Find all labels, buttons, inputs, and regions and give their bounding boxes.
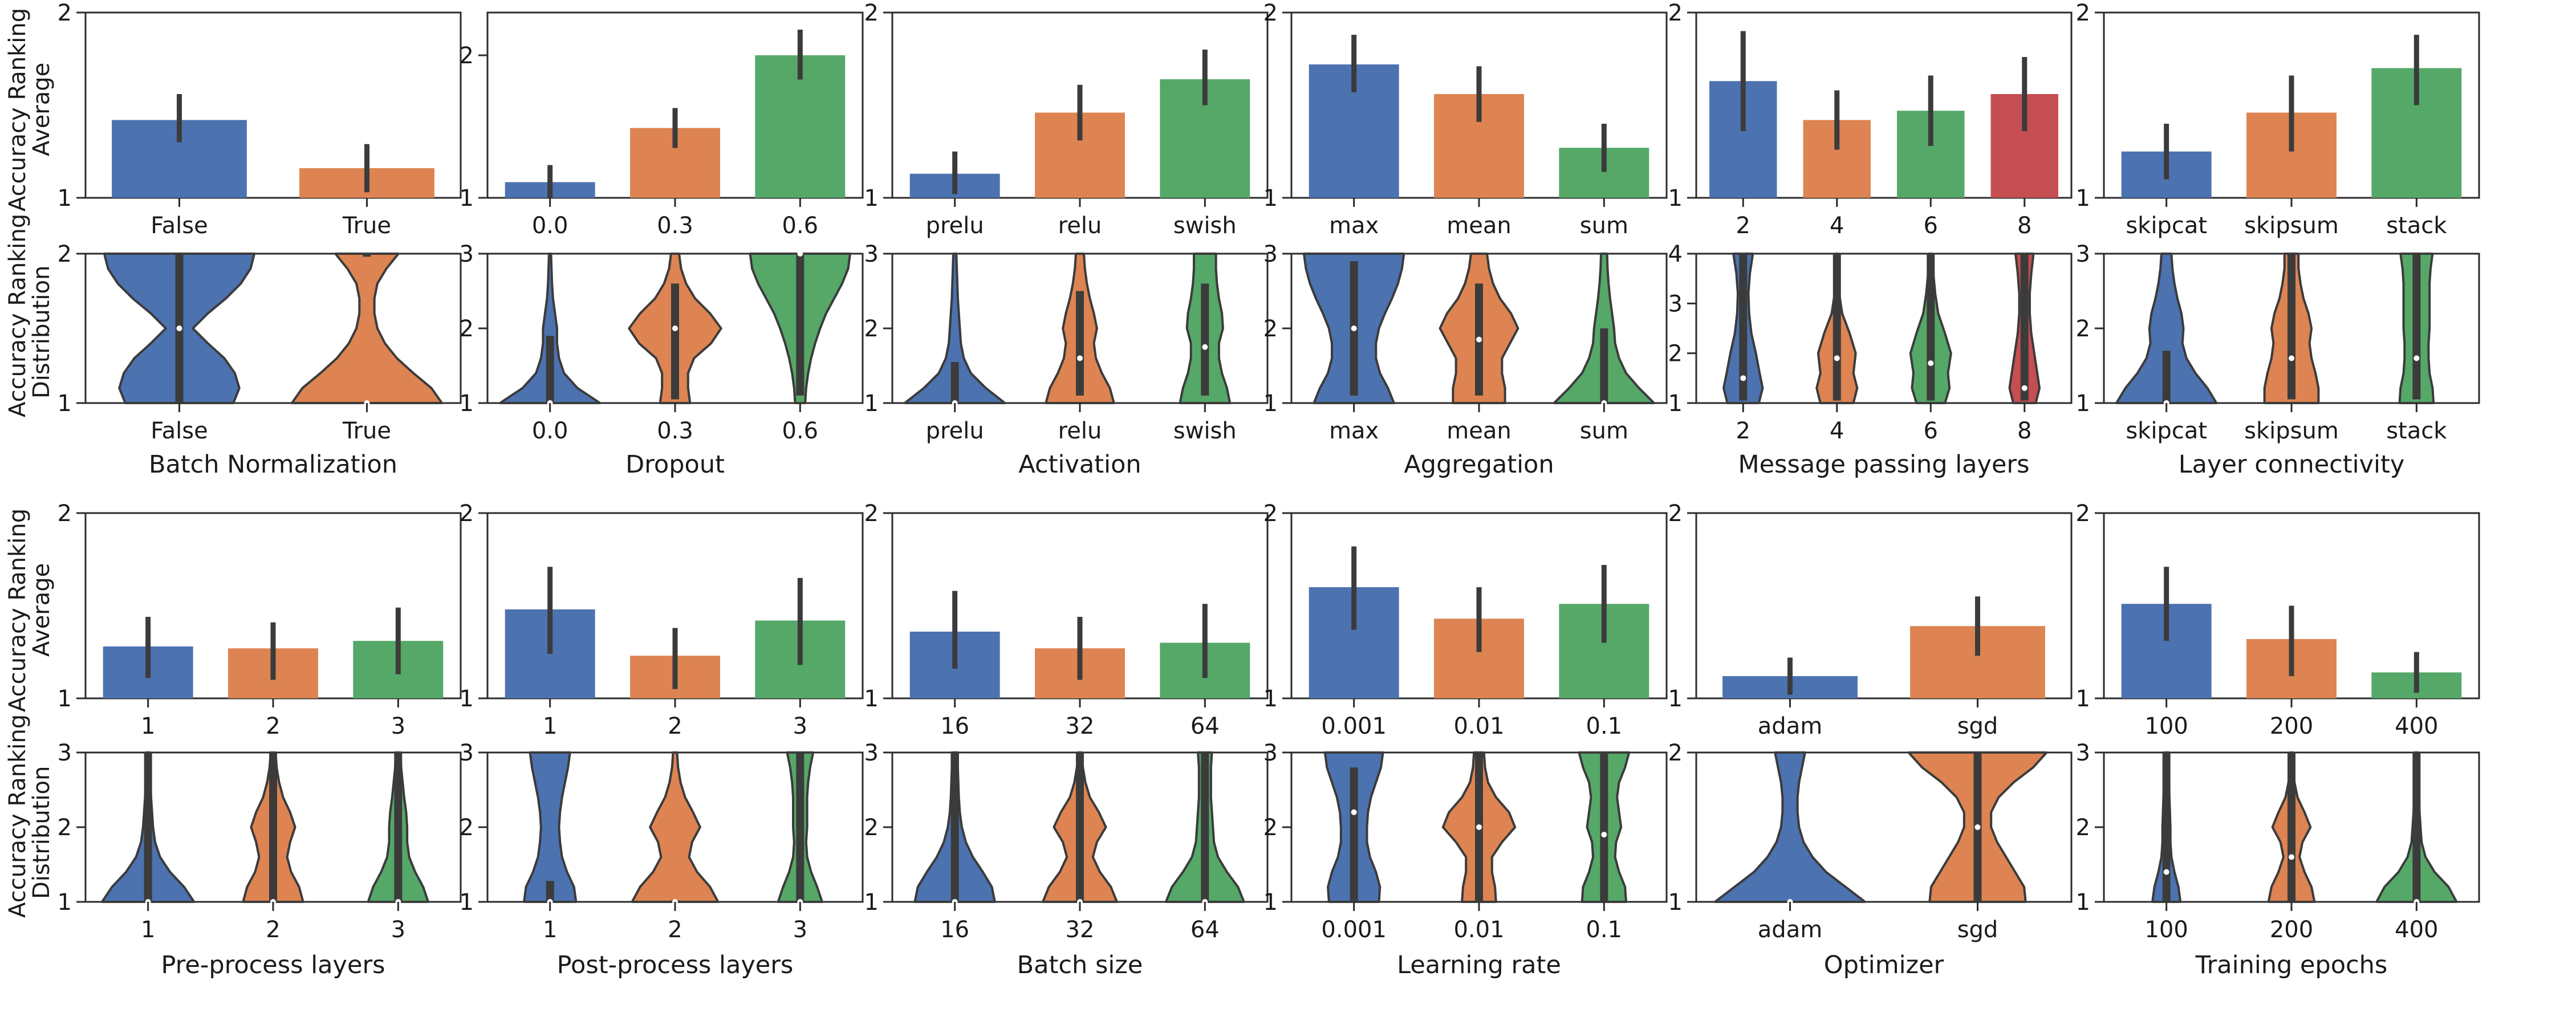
figure-root: 12FalseTrue120.00.30.612prelureluswish12…: [0, 0, 2576, 1025]
x-tick-label: 6: [1924, 213, 1938, 239]
x-tick-label: adam: [1758, 713, 1822, 739]
x-tick-label: 2: [668, 713, 682, 739]
y-tick-label: 2: [864, 0, 879, 26]
y-tick-label: 1: [58, 391, 72, 417]
x-tick-label: 6: [1924, 418, 1938, 444]
y-tick-label: 2: [1263, 0, 1278, 26]
bar-400: [2371, 652, 2461, 698]
panel-activation: 12prelureluswish: [858, 0, 1279, 278]
y-tick-label: 1: [864, 185, 879, 211]
bar-prelu: [910, 152, 1000, 198]
y-tick-label: 3: [1263, 241, 1278, 267]
x-axis-title-aggregation: Aggregation: [1269, 450, 1689, 479]
bar-True: [299, 144, 434, 198]
bar-stack: [2371, 35, 2461, 198]
x-axis-title-batch-normalization: Batch Normalization: [63, 450, 483, 479]
y-tick-label: 1: [864, 889, 879, 916]
x-tick-label: 0.3: [657, 418, 693, 444]
violin-0.3: [629, 254, 721, 403]
y-tick-label: 3: [864, 740, 879, 766]
x-tick-label: 1: [543, 917, 557, 943]
bar-mean: [1434, 66, 1524, 198]
x-tick-label: skipcat: [2126, 418, 2207, 444]
row-label-accuracy-ranking-distribution-top: Accuracy Ranking Distribution: [6, 246, 54, 417]
y-tick-label: 3: [2076, 241, 2090, 267]
panel-pre-process-layers: 12123: [51, 499, 472, 778]
y-tick-label: 2: [1263, 316, 1278, 342]
violin-16: [915, 753, 994, 905]
x-tick-label: 1: [543, 713, 557, 739]
y-tick-label: 1: [1263, 185, 1278, 211]
bar-8: [1991, 57, 2058, 198]
x-tick-label: True: [342, 213, 391, 239]
y-tick-label: 2: [864, 316, 879, 342]
bar-16: [910, 591, 1000, 699]
bar-0.6: [755, 30, 845, 198]
x-tick-label: sgd: [1957, 917, 1998, 943]
violin-prelu: [905, 254, 1005, 406]
violin-adam: [1715, 753, 1865, 905]
x-tick-label: 0.6: [782, 213, 819, 239]
y-tick-label: 3: [58, 740, 72, 766]
violin-relu: [1046, 254, 1114, 403]
panel-training-epochs: 12100200400: [2070, 499, 2490, 778]
x-tick-label: 0.0: [532, 213, 568, 239]
x-tick-label: 16: [940, 713, 969, 739]
y-tick-label: 1: [2076, 889, 2090, 916]
y-tick-label: 1: [1263, 686, 1278, 712]
violin-1: [524, 753, 576, 905]
violin-0.001: [1325, 753, 1383, 902]
violin-2: [1724, 254, 1762, 403]
bar-3: [755, 578, 845, 698]
panel-layer-connectivity: 12skipcatskipsumstack: [2070, 0, 2490, 278]
y-tick-label: 2: [1668, 0, 1683, 26]
x-tick-label: 1: [141, 917, 155, 943]
y-tick-label: 1: [1263, 889, 1278, 916]
x-tick-label: 0.0: [532, 418, 568, 444]
y-tick-label: 2: [864, 501, 879, 527]
x-tick-label: swish: [1173, 418, 1237, 444]
x-tick-label: skipcat: [2126, 213, 2207, 239]
violin-1: [102, 753, 194, 905]
violin-0.01: [1443, 753, 1515, 902]
x-tick-label: 2: [668, 917, 682, 943]
x-tick-label: swish: [1173, 213, 1237, 239]
x-axis-title-layer-connectivity: Layer connectivity: [2081, 450, 2502, 479]
y-tick-label: 4: [1668, 241, 1683, 267]
violin-sgd: [1908, 753, 2046, 902]
x-axis-title-learning-rate: Learning rate: [1269, 951, 1689, 979]
x-tick-label: 2: [266, 917, 280, 943]
panel-batch-size: 12163264: [858, 499, 1279, 778]
violin-4: [1817, 254, 1857, 403]
x-tick-label: 0.6: [782, 418, 819, 444]
x-tick-label: 0.01: [1453, 917, 1504, 943]
y-tick-label: 2: [460, 43, 474, 69]
row-label-accuracy-ranking-average-top: Accuracy Ranking Average: [6, 7, 54, 212]
bar-1: [505, 567, 595, 698]
y-tick-label: 1: [2076, 185, 2090, 211]
bar-0.0: [505, 165, 595, 198]
y-tick-label: 2: [460, 316, 474, 342]
y-tick-label: 2: [1668, 501, 1683, 527]
x-tick-label: sum: [1580, 213, 1628, 239]
bar-0.3: [630, 108, 720, 198]
y-tick-label: 1: [1668, 391, 1683, 417]
panel-learning-rate: 120.0010.010.1: [1257, 499, 1678, 778]
violin-3: [778, 753, 822, 905]
bar-max: [1309, 35, 1399, 198]
bar-100: [2122, 567, 2212, 698]
y-tick-label: 3: [460, 740, 474, 766]
panel-aggregation: 12maxmeansum: [1257, 0, 1678, 278]
y-tick-label: 2: [1668, 341, 1683, 367]
bar-64: [1160, 604, 1250, 698]
x-tick-label: 200: [2270, 713, 2313, 739]
violin-True: [292, 254, 442, 406]
x-tick-label: 0.001: [1321, 713, 1387, 739]
x-tick-label: sgd: [1957, 713, 1998, 739]
x-tick-label: 3: [391, 713, 405, 739]
y-tick-label: 1: [58, 686, 72, 712]
x-tick-label: 32: [1066, 917, 1095, 943]
violin-100: [2152, 753, 2180, 902]
x-axis-title-activation: Activation: [869, 450, 1290, 479]
x-tick-label: True: [342, 418, 391, 444]
violin-400: [2376, 753, 2456, 905]
x-tick-label: 2: [1736, 418, 1750, 444]
violin-6: [1911, 254, 1951, 403]
x-tick-label: 200: [2270, 917, 2313, 943]
bar-skipcat: [2122, 124, 2212, 198]
bar-swish: [1160, 50, 1250, 198]
x-tick-label: 8: [2017, 213, 2031, 239]
y-tick-label: 2: [58, 241, 72, 267]
panel-message-passing-layers: 122468: [1662, 0, 2083, 278]
x-tick-label: 16: [940, 917, 969, 943]
x-tick-label: 64: [1191, 917, 1220, 943]
x-tick-label: 64: [1191, 713, 1220, 739]
x-tick-label: 0.1: [1586, 713, 1623, 739]
violin-0.1: [1579, 753, 1629, 902]
bar-False: [112, 94, 247, 198]
y-tick-label: 2: [2076, 0, 2090, 26]
x-tick-label: 4: [1830, 418, 1844, 444]
x-tick-label: 8: [2017, 418, 2031, 444]
x-axis-title-pre-process-layers: Pre-process layers: [63, 951, 483, 979]
bar-32: [1035, 617, 1125, 698]
y-tick-label: 3: [460, 241, 474, 267]
x-tick-label: stack: [2386, 213, 2447, 239]
bar-relu: [1035, 85, 1125, 198]
y-tick-label: 2: [1263, 501, 1278, 527]
y-tick-label: 1: [864, 391, 879, 417]
x-tick-label: 0.01: [1453, 713, 1504, 739]
bar-2: [630, 628, 720, 699]
violin-sum: [1554, 254, 1654, 406]
y-tick-label: 3: [864, 241, 879, 267]
y-tick-label: 1: [1668, 185, 1683, 211]
violin-2: [243, 753, 303, 905]
x-tick-label: False: [151, 213, 208, 239]
x-tick-label: relu: [1058, 213, 1102, 239]
x-tick-label: 0.3: [657, 213, 693, 239]
bar-0.001: [1309, 547, 1399, 699]
bar-skipsum: [2246, 76, 2337, 198]
row-label-accuracy-ranking-average-bottom: Accuracy Ranking Average: [6, 507, 54, 713]
y-tick-label: 1: [1668, 686, 1683, 712]
violin-8: [2009, 254, 2039, 403]
x-tick-label: 0.1: [1586, 917, 1623, 943]
x-tick-label: 3: [391, 917, 405, 943]
x-axis-title-dropout: Dropout: [465, 450, 885, 479]
row-label-accuracy-ranking-distribution-bottom: Accuracy Ranking Distribution: [6, 747, 54, 918]
panel-dropout: 120.00.30.6: [453, 0, 874, 278]
x-axis-title-post-process-layers: Post-process layers: [465, 951, 885, 979]
x-tick-label: max: [1329, 418, 1379, 444]
x-tick-label: 0.001: [1321, 917, 1387, 943]
x-tick-label: 2: [1736, 213, 1750, 239]
x-tick-label: max: [1329, 213, 1379, 239]
x-tick-label: prelu: [926, 213, 984, 239]
x-axis-title-training-epochs: Training epochs: [2081, 951, 2502, 979]
x-axis-title-message-passing-layers: Message passing layers: [1673, 450, 2094, 479]
y-tick-label: 2: [460, 815, 474, 841]
y-tick-label: 2: [460, 501, 474, 527]
panel-optimizer: 12adamsgd: [1662, 499, 2083, 778]
x-tick-label: 3: [793, 713, 807, 739]
bar-sum: [1559, 124, 1649, 198]
y-tick-label: 3: [1668, 291, 1683, 317]
violin-200: [2269, 753, 2315, 902]
y-tick-label: 1: [58, 889, 72, 916]
y-tick-label: 2: [1263, 815, 1278, 841]
violin-swish: [1180, 254, 1230, 403]
panel-post-process-layers: 12123: [453, 499, 874, 778]
y-tick-label: 3: [1263, 740, 1278, 766]
x-tick-label: skipsum: [2244, 418, 2339, 444]
bar-sgd: [1910, 596, 2045, 698]
x-tick-label: stack: [2386, 418, 2447, 444]
x-tick-label: 1: [141, 713, 155, 739]
y-tick-label: 1: [1263, 391, 1278, 417]
x-tick-label: 400: [2395, 917, 2438, 943]
y-tick-label: 2: [2076, 815, 2090, 841]
bar-adam: [1722, 658, 1858, 699]
y-tick-label: 1: [460, 889, 474, 916]
x-tick-label: 3: [793, 917, 807, 943]
x-tick-label: prelu: [926, 418, 984, 444]
x-tick-label: mean: [1447, 213, 1511, 239]
y-tick-label: 2: [58, 0, 72, 26]
y-tick-label: 1: [460, 185, 474, 211]
violin-2: [632, 753, 718, 905]
bar-3: [353, 608, 443, 698]
y-tick-label: 1: [460, 391, 474, 417]
bar-0.01: [1434, 587, 1524, 698]
violin-64: [1166, 753, 1244, 905]
bar-2: [228, 623, 318, 698]
violin-3: [368, 753, 428, 905]
panel-batch-normalization: 12FalseTrue: [51, 0, 472, 278]
bar-4: [1803, 91, 1871, 198]
bar-1: [103, 617, 193, 698]
y-tick-label: 2: [58, 815, 72, 841]
y-tick-label: 1: [1668, 889, 1683, 916]
x-axis-title-batch-size: Batch size: [869, 951, 1290, 979]
violin-0.6: [750, 251, 850, 403]
x-tick-label: adam: [1758, 917, 1822, 943]
x-tick-label: 32: [1066, 713, 1095, 739]
bar-200: [2246, 606, 2337, 699]
violin-False: [104, 254, 254, 403]
x-tick-label: skipsum: [2244, 213, 2339, 239]
x-tick-label: 4: [1830, 213, 1844, 239]
violin-32: [1043, 753, 1117, 905]
x-tick-label: 2: [266, 713, 280, 739]
y-tick-label: 1: [460, 686, 474, 712]
y-tick-label: 2: [1668, 740, 1683, 766]
y-tick-label: 1: [2076, 686, 2090, 712]
violin-0.0: [500, 254, 600, 406]
x-tick-label: relu: [1058, 418, 1102, 444]
x-tick-label: 400: [2395, 713, 2438, 739]
violin-stack: [2400, 254, 2434, 403]
y-tick-label: 2: [864, 815, 879, 841]
violin-max: [1304, 254, 1404, 403]
x-tick-label: False: [151, 418, 208, 444]
bar-6: [1897, 76, 1964, 198]
violin-skipcat: [2116, 254, 2216, 406]
y-tick-label: 2: [2076, 501, 2090, 527]
violin-skipsum: [2265, 254, 2319, 403]
bar-0.1: [1559, 565, 1649, 698]
y-tick-label: 1: [2076, 391, 2090, 417]
y-tick-label: 2: [58, 501, 72, 527]
bar-2: [1709, 31, 1777, 198]
x-tick-label: sum: [1580, 418, 1628, 444]
x-axis-title-optimizer: Optimizer: [1673, 951, 2094, 979]
y-tick-label: 2: [2076, 316, 2090, 342]
violin-mean: [1440, 254, 1518, 403]
y-tick-label: 3: [2076, 740, 2090, 766]
y-tick-label: 1: [58, 185, 72, 211]
y-tick-label: 1: [864, 686, 879, 712]
x-tick-label: mean: [1447, 418, 1511, 444]
x-tick-label: 100: [2144, 713, 2188, 739]
x-tick-label: 100: [2144, 917, 2188, 943]
